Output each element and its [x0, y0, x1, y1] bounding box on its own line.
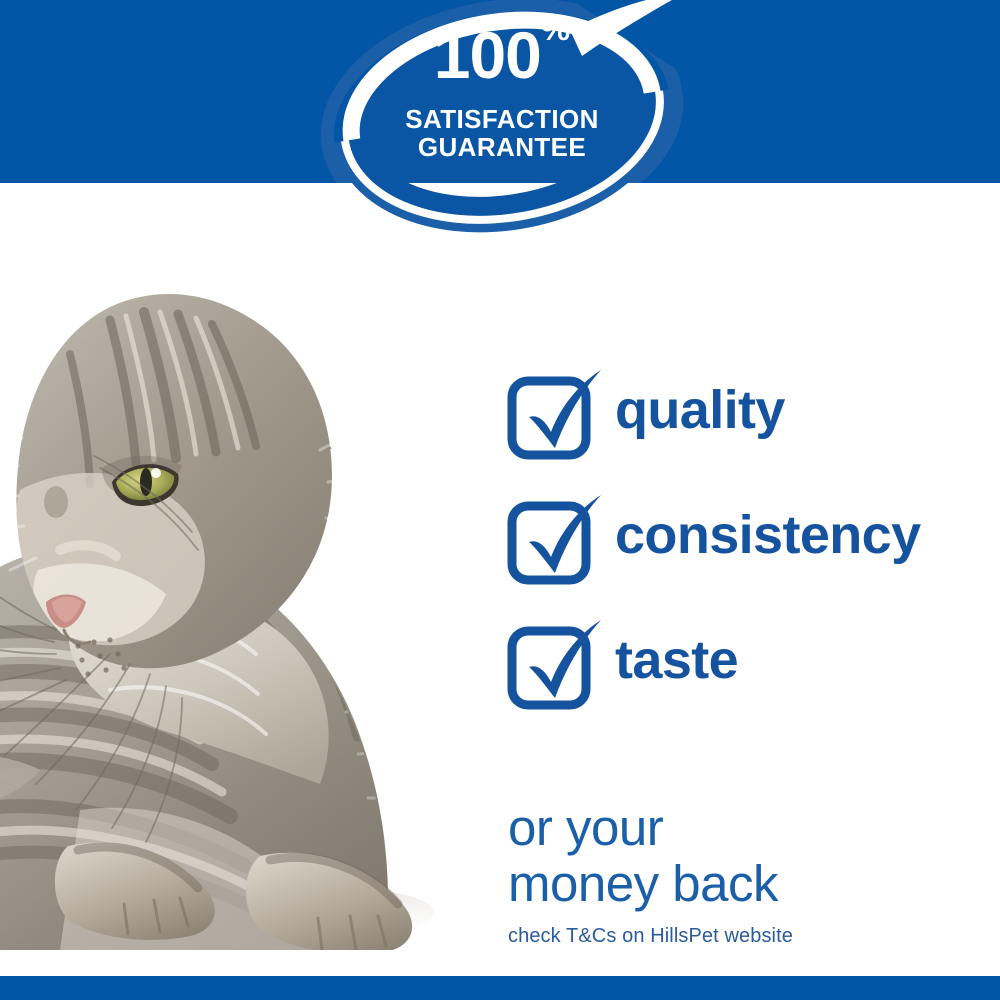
checkbox-checked-icon [505, 370, 597, 462]
closing-line-2: money back [508, 856, 978, 912]
terms-note: check T&Cs on HillsPet website [508, 924, 978, 948]
guarantee-swoosh-badge [312, 0, 692, 259]
checkbox-checked-icon [505, 620, 597, 712]
closing-copy: or your money back check T&Cs on HillsPe… [508, 800, 978, 948]
checklist-label-quality: quality [615, 374, 785, 446]
bottom-blue-band [0, 976, 1000, 1000]
advertisement-canvas: 100% SATISFACTION GUARANTEE quality [0, 0, 1000, 1000]
checklist-item-quality: quality [505, 370, 975, 495]
benefits-checklist: quality consistency taste [505, 370, 975, 745]
silver-tabby-cat-photo [0, 250, 520, 950]
checkbox-checked-icon [505, 495, 597, 587]
guarantee-badge: 100% SATISFACTION GUARANTEE [312, 0, 692, 259]
checklist-label-taste: taste [615, 624, 738, 696]
checklist-item-taste: taste [505, 620, 975, 745]
closing-line-1: or your [508, 800, 978, 856]
checklist-item-consistency: consistency [505, 495, 975, 620]
checklist-label-consistency: consistency [615, 499, 921, 571]
